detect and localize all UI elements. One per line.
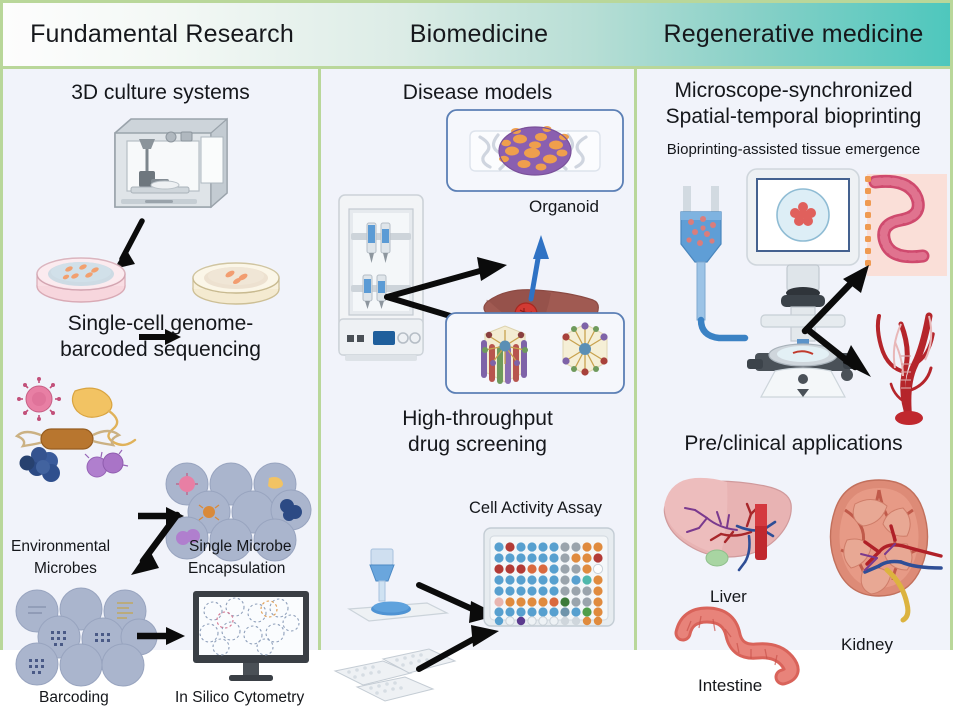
caption-in-silico-cytometry: In Silico Cytometry (175, 689, 304, 707)
graphical-abstract: Fundamental Research Biomedicine Regener… (0, 0, 953, 650)
caption-liver: Liver (710, 587, 747, 607)
caption-intestine: Intestine (698, 676, 762, 696)
title-preclinical-applications: Pre/clinical applications (637, 432, 950, 456)
title-high-throughput-line1: High-throughput (321, 407, 634, 431)
subtitle-tissue-emergence: Bioprinting-assisted tissue emergence (637, 141, 950, 158)
arrow-to-vasculature (803, 319, 879, 387)
organoid-box (446, 109, 624, 192)
intestine-anatomy-graphic (671, 607, 801, 679)
header-bar: Fundamental Research Biomedicine Regener… (3, 3, 950, 69)
in-silico-cytometry-monitor-graphic (191, 589, 311, 685)
kidney-anatomy-graphic (815, 474, 943, 624)
rod-brown (17, 429, 119, 449)
column-fundamental-research: 3D culture systems (3, 69, 321, 650)
blue-arrow-to-organoid (509, 229, 553, 301)
caption-organoid: Organoid (529, 197, 599, 217)
caption-environmental-line2: Microbes (34, 560, 97, 578)
header-biomedicine: Biomedicine (321, 3, 637, 66)
caption-encapsulation-line2: Encapsulation (188, 560, 285, 578)
title-single-cell-line1: Single-cell genome- (3, 312, 318, 336)
caption-cell-activity-assay: Cell Activity Assay (469, 499, 602, 518)
title-microscope-sync-line2: Spatial-temporal bioprinting (637, 105, 950, 129)
diplococcus-purple (85, 450, 128, 477)
caption-encapsulation-line1: Single Microbe (189, 538, 292, 556)
petri-dish-result (188, 249, 284, 309)
arrow-barcoding-to-cytometry (135, 626, 187, 646)
bioprinter-enclosure-graphic (101, 111, 233, 219)
column-biomedicine: Disease models (321, 69, 637, 650)
virus-pink (17, 377, 61, 421)
liver-lobule-box (445, 312, 625, 394)
title-disease-models: Disease models (321, 81, 634, 105)
title-3d-culture-systems: 3D culture systems (3, 81, 318, 105)
caption-kidney: Kidney (841, 635, 893, 655)
liver-anatomy-graphic (659, 474, 797, 584)
caption-environmental-line1: Environmental (11, 538, 110, 556)
header-fundamental-research: Fundamental Research (3, 3, 321, 66)
barcoded-droplets-graphic (15, 591, 155, 686)
title-microscope-sync-line1: Microscope-synchronized (637, 79, 950, 103)
environmental-microbes-graphic (13, 381, 163, 479)
arrow-microbes-to-barcoding (121, 509, 183, 581)
petri-dish-source (33, 244, 129, 306)
header-regenerative-medicine: Regenerative medicine (637, 3, 950, 66)
well-plate-graphic (483, 527, 615, 627)
title-high-throughput-line2: drug screening (321, 433, 634, 457)
caption-barcoding: Barcoding (39, 689, 109, 707)
title-single-cell-line2: barcoded sequencing (3, 338, 318, 362)
column-regenerative-medicine: Microscope-synchronized Spatial-temporal… (637, 69, 950, 650)
cluster-darkblue (20, 447, 61, 482)
